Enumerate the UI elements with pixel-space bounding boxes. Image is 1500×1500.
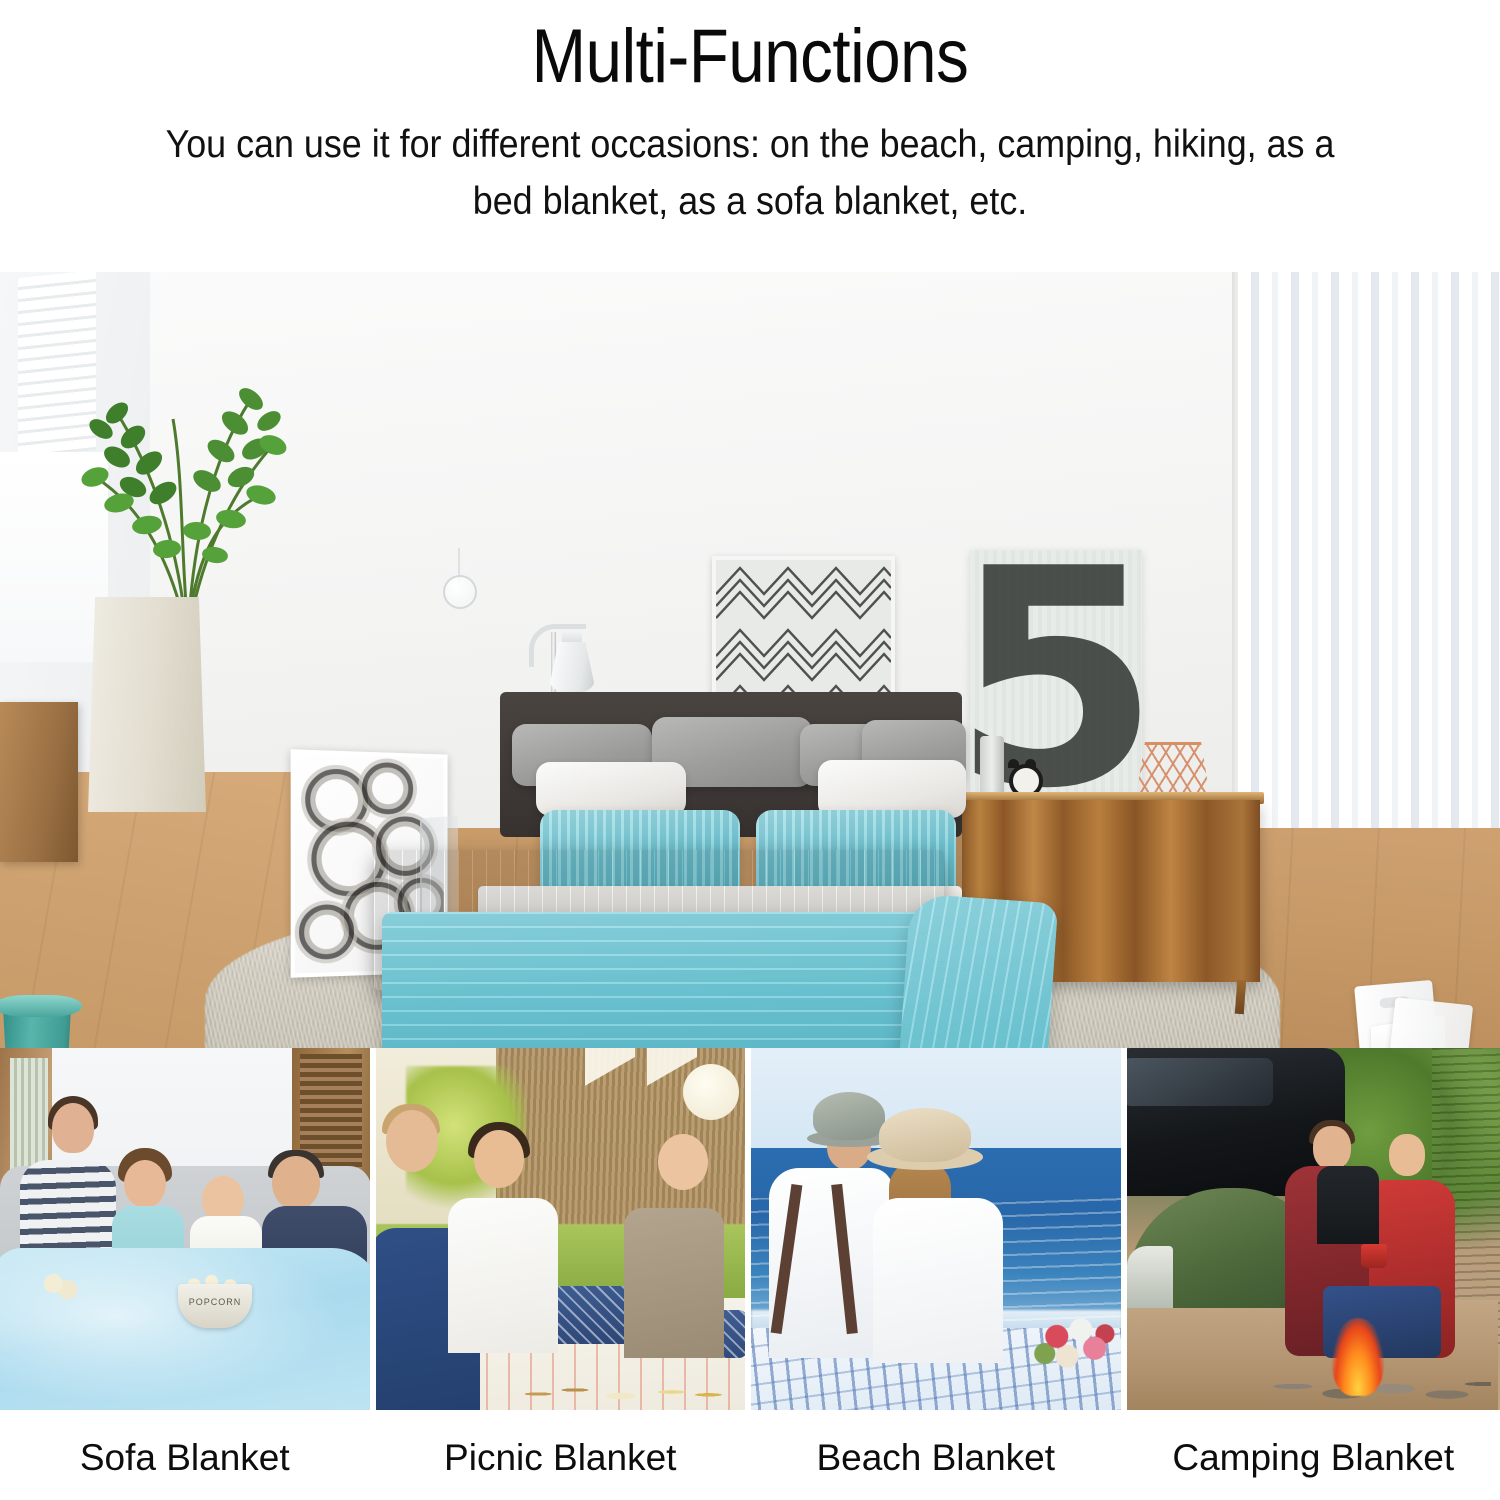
page-title: Multi-Functions — [105, 12, 1395, 102]
bucket-lid — [0, 995, 82, 1017]
father-head — [386, 1110, 438, 1172]
product-infographic-page: Multi-Functions You can use it for diffe… — [0, 0, 1500, 1500]
paper-lantern — [683, 1064, 739, 1120]
zz-plant — [55, 317, 325, 617]
man-head — [1313, 1126, 1351, 1170]
pendant-bulb-icon — [443, 575, 477, 609]
thumbnail-camping-blanket[interactable] — [1127, 1048, 1500, 1410]
man-torso — [1317, 1166, 1379, 1244]
boy-head — [474, 1130, 524, 1188]
woman-head — [1389, 1134, 1425, 1176]
girl-figure — [624, 1208, 724, 1358]
thumbnail-picnic-blanket[interactable] — [376, 1048, 746, 1410]
caption-sofa-blanket: Sofa Blanket — [0, 1432, 370, 1479]
white-pillow — [536, 762, 686, 816]
woman-sun-hat — [879, 1108, 971, 1162]
tent-door — [1127, 1246, 1173, 1308]
woman-figure — [873, 1198, 1003, 1363]
plant-pot — [88, 597, 206, 812]
red-mug — [1361, 1244, 1387, 1268]
page-subtitle: You can use it for different occasions: … — [138, 116, 1362, 231]
flower-bouquet — [1031, 1310, 1117, 1376]
caption-beach-blanket: Beach Blanket — [751, 1432, 1121, 1479]
caption-camping-blanket: Camping Blanket — [1127, 1432, 1500, 1479]
header: Multi-Functions You can use it for diffe… — [0, 0, 1500, 272]
hero-bedroom-image: 5 — [0, 272, 1500, 1048]
caption-picnic-blanket: Picnic Blanket — [376, 1432, 746, 1479]
popcorn-bowl-label: POPCORN — [178, 1297, 252, 1307]
boy-figure — [448, 1198, 558, 1353]
grey-vase — [980, 736, 1004, 794]
father-head — [272, 1156, 320, 1210]
girl-head — [658, 1134, 708, 1190]
picnic-food — [506, 1370, 736, 1410]
thumbnail-sofa-blanket[interactable]: POPCORN — [0, 1048, 370, 1410]
suv-window — [1127, 1058, 1273, 1106]
thumbnail-beach-blanket[interactable] — [751, 1048, 1121, 1410]
mother-head — [52, 1103, 94, 1153]
wooden-dresser — [0, 702, 78, 862]
teal-quilt-on-bed — [382, 912, 970, 1048]
thumbnail-captions: Sofa Blanket Picnic Blanket Beach Blanke… — [0, 1410, 1500, 1500]
magazine-rack — [1361, 983, 1461, 1048]
plant-svg — [55, 317, 325, 617]
man-fedora-hat — [813, 1092, 885, 1140]
campfire-flames — [1332, 1318, 1384, 1396]
copper-wire-basket — [1136, 742, 1210, 797]
alarm-clock — [1007, 759, 1037, 792]
popcorn-pile — [38, 1270, 82, 1304]
usage-thumbnail-strip: POPCORN — [0, 1048, 1500, 1410]
teal-quilt-draped — [890, 893, 1059, 1048]
boy-head — [124, 1160, 166, 1208]
